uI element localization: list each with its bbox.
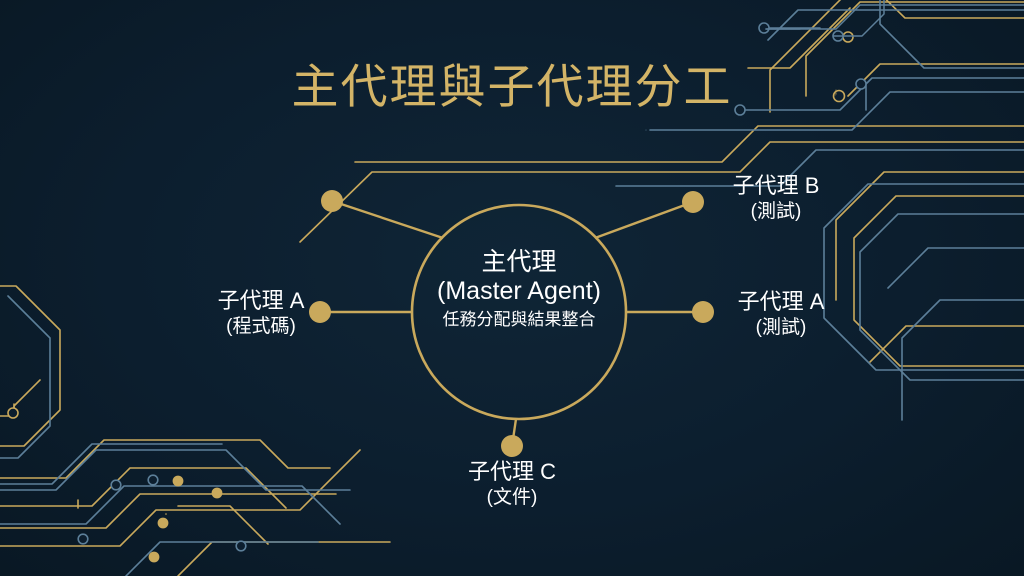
label-sub-agent-c-doc-sub: (文件) <box>452 486 572 510</box>
master-agent-name: 主代理 <box>411 248 627 277</box>
label-sub-agent-b-test: 子代理 B (測試) <box>716 172 836 223</box>
label-sub-agent-a-test-sub: (測試) <box>726 316 836 340</box>
label-sub-agent-a-code: 子代理 A (程式碼) <box>206 287 316 338</box>
label-sub-agent-c-doc-main: 子代理 C <box>452 458 572 486</box>
label-sub-agent-b-test-main: 子代理 B <box>716 172 836 200</box>
master-agent-name-en: (Master Agent) <box>411 277 627 306</box>
slide-canvas: 主代理與子代理分工 主代理 (Master Agent) 任務分配與結果整合 子… <box>0 0 1024 576</box>
node-dot-upper-left[interactable] <box>321 190 343 212</box>
node-dot-upper-right[interactable] <box>682 191 704 213</box>
label-sub-agent-b-test-sub: (測試) <box>716 200 836 224</box>
spoke-to-sub-agent-a-code-upper <box>332 201 443 238</box>
node-dot-right[interactable] <box>692 301 714 323</box>
label-sub-agent-a-test-main: 子代理 A <box>726 288 836 316</box>
spoke-to-sub-agent-b-test <box>595 202 693 238</box>
node-dot-bottom[interactable] <box>501 435 523 457</box>
label-sub-agent-a-code-main: 子代理 A <box>206 287 316 315</box>
label-sub-agent-a-code-sub: (程式碼) <box>206 315 316 339</box>
label-sub-agent-a-test: 子代理 A (測試) <box>726 288 836 339</box>
master-agent-description: 任務分配與結果整合 <box>411 310 627 330</box>
master-agent-text-block: 主代理 (Master Agent) 任務分配與結果整合 <box>411 248 627 330</box>
label-sub-agent-c-doc: 子代理 C (文件) <box>452 458 572 509</box>
